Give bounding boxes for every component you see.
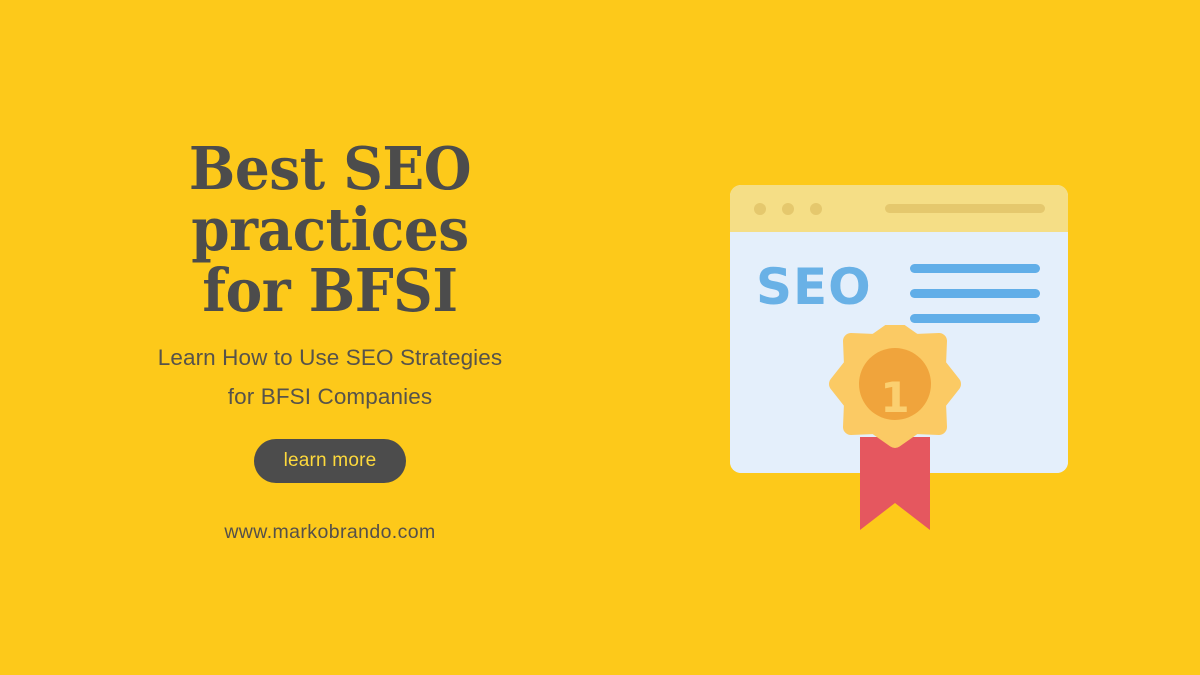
seo-illustration: SEO 1 bbox=[660, 0, 1200, 675]
page-subtitle: Learn How to Use SEO Strategies for BFSI… bbox=[50, 339, 610, 416]
page-title: Best SEO practices for BFSI bbox=[51, 139, 609, 321]
learn-more-button[interactable]: learn more bbox=[254, 439, 407, 483]
seo-heading-text: SEO bbox=[756, 262, 872, 312]
content-line-1 bbox=[910, 264, 1040, 273]
window-dot-3-icon bbox=[810, 203, 822, 215]
content-line-2 bbox=[910, 289, 1040, 298]
ribbon-icon bbox=[860, 437, 930, 530]
subtitle-line-2: for BFSI Companies bbox=[50, 378, 610, 417]
subtitle-line-1: Learn How to Use SEO Strategies bbox=[50, 339, 610, 378]
headline-line-1: Best SEO practices bbox=[51, 139, 609, 261]
headline-line-2: for BFSI bbox=[51, 261, 609, 322]
website-url: www.markobrando.com bbox=[224, 521, 435, 544]
banner-root: Best SEO practices for BFSI Learn How to… bbox=[0, 0, 1200, 675]
badge-circle bbox=[859, 348, 931, 420]
content-line-3 bbox=[910, 314, 1040, 323]
award-badge-graphic: 1 bbox=[820, 325, 970, 535]
browser-address-bar bbox=[885, 204, 1045, 213]
browser-titlebar bbox=[730, 185, 1068, 232]
window-dot-1-icon bbox=[754, 203, 766, 215]
text-column: Best SEO practices for BFSI Learn How to… bbox=[0, 0, 660, 675]
window-dot-2-icon bbox=[782, 203, 794, 215]
